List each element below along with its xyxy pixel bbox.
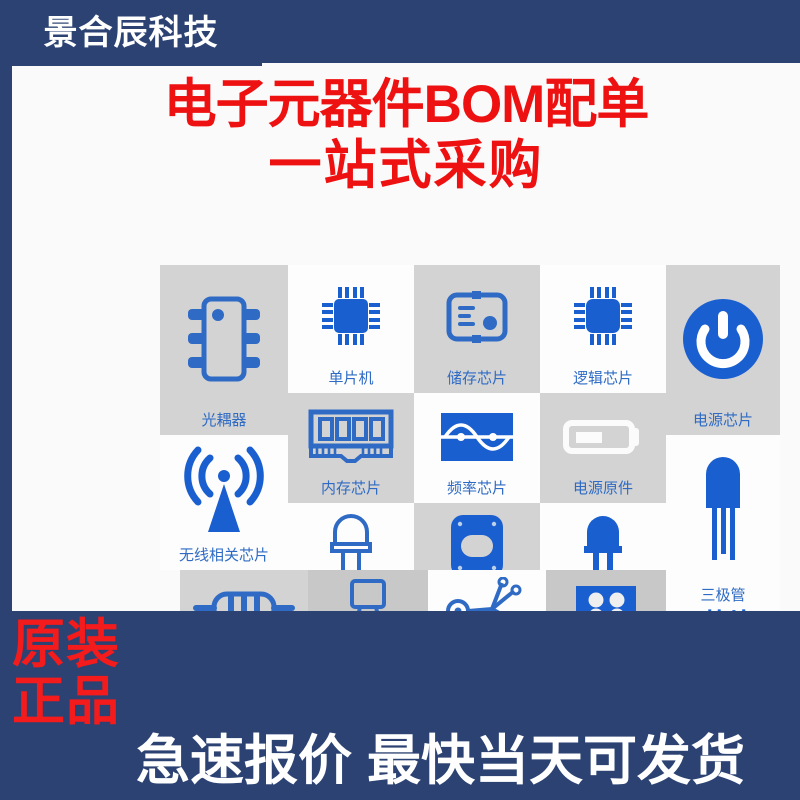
- battery-icon: [540, 393, 666, 481]
- bottom-banner: 原装 正品 急速报价 最快当天可发货: [0, 611, 800, 800]
- content-card: 电子元器件BOM配单 一站式采购 光耦器: [12, 63, 800, 611]
- headline-line-1: 电子元器件BOM配单: [12, 77, 800, 132]
- category-tile-logic[interactable]: 逻辑芯片: [540, 265, 666, 393]
- badge-line-1: 原装: [12, 617, 120, 674]
- category-label: 内存芯片: [321, 481, 381, 503]
- category-label: 逻辑芯片: [573, 371, 633, 393]
- category-tile-memory[interactable]: 内存芯片: [288, 393, 414, 503]
- frequency-wave-icon: [414, 393, 540, 481]
- category-label: 电源芯片: [693, 413, 753, 435]
- power-chip-icon: [666, 265, 780, 413]
- page-title: 电子元器件BOM配单 一站式采购: [12, 77, 800, 193]
- category-tile-mcu[interactable]: 单片机: [288, 265, 414, 393]
- category-label: 频率芯片: [447, 481, 507, 503]
- category-tile-power-component[interactable]: 电源原件: [540, 393, 666, 503]
- brand-logo: 景合辰科技: [0, 0, 262, 66]
- category-label: 电源原件: [573, 481, 633, 503]
- transistor-icon: [666, 435, 780, 588]
- authenticity-badge: 原装 正品: [12, 617, 120, 730]
- category-label: 无线相关芯片: [179, 548, 269, 570]
- category-grid: 光耦器 单片机: [160, 265, 780, 607]
- storage-chip-icon: [414, 265, 540, 371]
- brand-logo-text: 景合辰科技: [44, 16, 219, 50]
- category-tile-power-chip[interactable]: 电源芯片: [666, 265, 780, 435]
- wireless-antenna-icon: [160, 435, 288, 548]
- memory-module-icon: [288, 393, 414, 481]
- category-label: 光耦器: [201, 413, 246, 435]
- category-tile-storage[interactable]: 储存芯片: [414, 265, 540, 393]
- poster-root: 电子元器件BOM配单 一站式采购 光耦器: [0, 0, 800, 800]
- badge-line-2: 正品: [12, 674, 120, 731]
- bottom-slogan: 急速报价 最快当天可发货: [136, 734, 745, 788]
- category-tile-transistor[interactable]: 三极管: [666, 435, 780, 610]
- category-tile-frequency[interactable]: 频率芯片: [414, 393, 540, 503]
- headline-line-2: 一站式采购: [12, 138, 800, 193]
- category-label: 储存芯片: [447, 371, 507, 393]
- logic-chip-icon: [540, 265, 666, 371]
- category-label: 单片机: [328, 371, 373, 393]
- mcu-chip-icon: [288, 265, 414, 371]
- category-tile-wireless[interactable]: 无线相关芯片: [160, 435, 288, 570]
- optocoupler-icon: [160, 265, 288, 413]
- category-tile-optocoupler[interactable]: 光耦器: [160, 265, 288, 435]
